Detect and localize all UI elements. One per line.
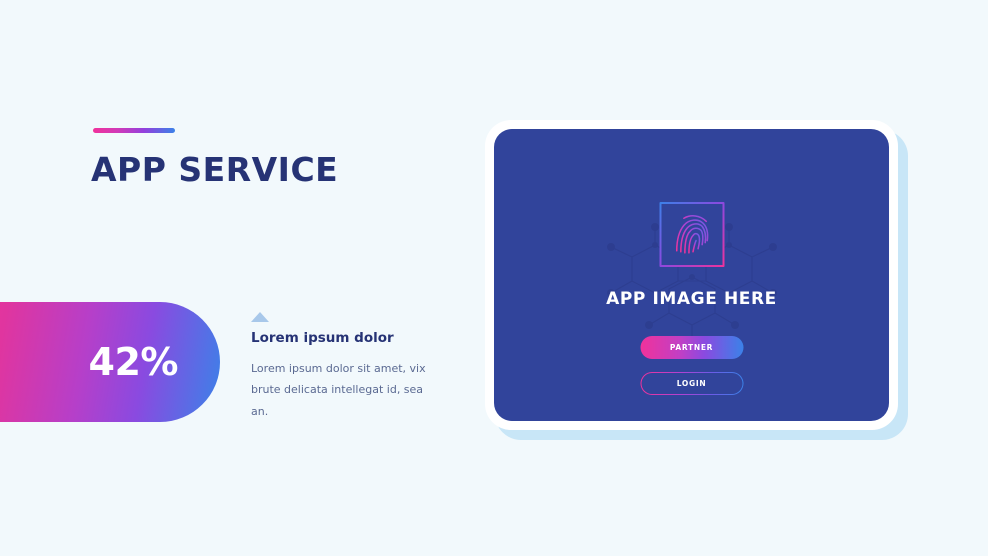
stat-badge: 42% (0, 302, 220, 422)
login-button-label: LOGIN (641, 373, 742, 394)
screen-title: APP IMAGE HERE (494, 289, 889, 309)
feature-body: Lorem ipsum dolor sit amet, vix brute de… (251, 358, 441, 422)
feature-block: Lorem ipsum dolor Lorem ipsum dolor sit … (251, 312, 441, 422)
fingerprint-icon (661, 204, 722, 265)
feature-title: Lorem ipsum dolor (251, 330, 441, 346)
partner-button[interactable]: PARTNER (640, 336, 743, 359)
stat-value: 42% (89, 340, 178, 384)
fingerprint-emblem-frame (659, 202, 724, 267)
title-accent-bar (93, 128, 175, 133)
page-title: APP SERVICE (91, 150, 338, 189)
triangle-up-icon (251, 312, 269, 322)
device-frame: APP IMAGE HERE PARTNER LOGIN (485, 120, 898, 430)
login-button[interactable]: LOGIN (640, 372, 743, 395)
device-mockup: APP IMAGE HERE PARTNER LOGIN (485, 120, 908, 440)
device-screen: APP IMAGE HERE PARTNER LOGIN (494, 129, 889, 421)
